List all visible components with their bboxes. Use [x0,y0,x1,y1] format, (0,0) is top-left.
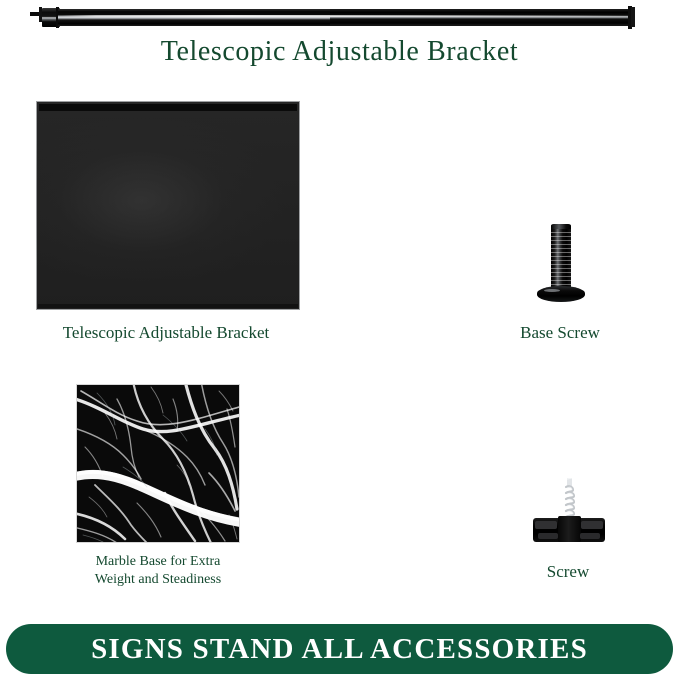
screw-wing-right [581,521,603,529]
screw-product-image [533,478,605,542]
banner-text: SIGNS STAND ALL ACCESSORIES [91,633,588,666]
page-title: Telescopic Adjustable Bracket [0,36,679,68]
caption-screw: Screw [448,561,679,583]
screw-center-boss [558,516,581,542]
base-screw-flat-head [537,286,585,302]
screw-wing-left [535,521,557,529]
telescopic-rod-illustration [30,2,655,34]
caption-marble-line2: Weight and Steadiness [58,571,258,589]
base-screw-shaft-top [551,224,571,229]
base-screw-threaded-shaft [551,224,571,291]
rod-right-tip [631,7,635,27]
rod-inner-tube [330,9,632,25]
bracket-sheen [36,115,300,305]
marble-base-product-image [76,384,240,543]
caption-bracket: Telescopic Adjustable Bracket [0,322,332,344]
caption-marble-base: Marble Base for Extra Weight and Steadin… [58,553,258,589]
base-screw-head-highlight [544,289,560,292]
bracket-top-edge [39,104,297,111]
screw-wing-bottom-left [538,533,558,539]
bracket-bottom-edge [38,304,298,308]
caption-base-screw: Base Screw [440,322,679,344]
base-screw-product-image [537,224,585,306]
accessories-banner: SIGNS STAND ALL ACCESSORIES [6,624,673,674]
infographic-page: Telescopic Adjustable Bracket Telescopic… [0,0,679,679]
rod-highlight [62,15,628,17]
screw-wing-bottom-right [580,533,600,539]
caption-marble-line1: Marble Base for Extra [58,553,258,571]
bracket-product-image [36,101,300,310]
marble-texture-svg [77,385,239,542]
